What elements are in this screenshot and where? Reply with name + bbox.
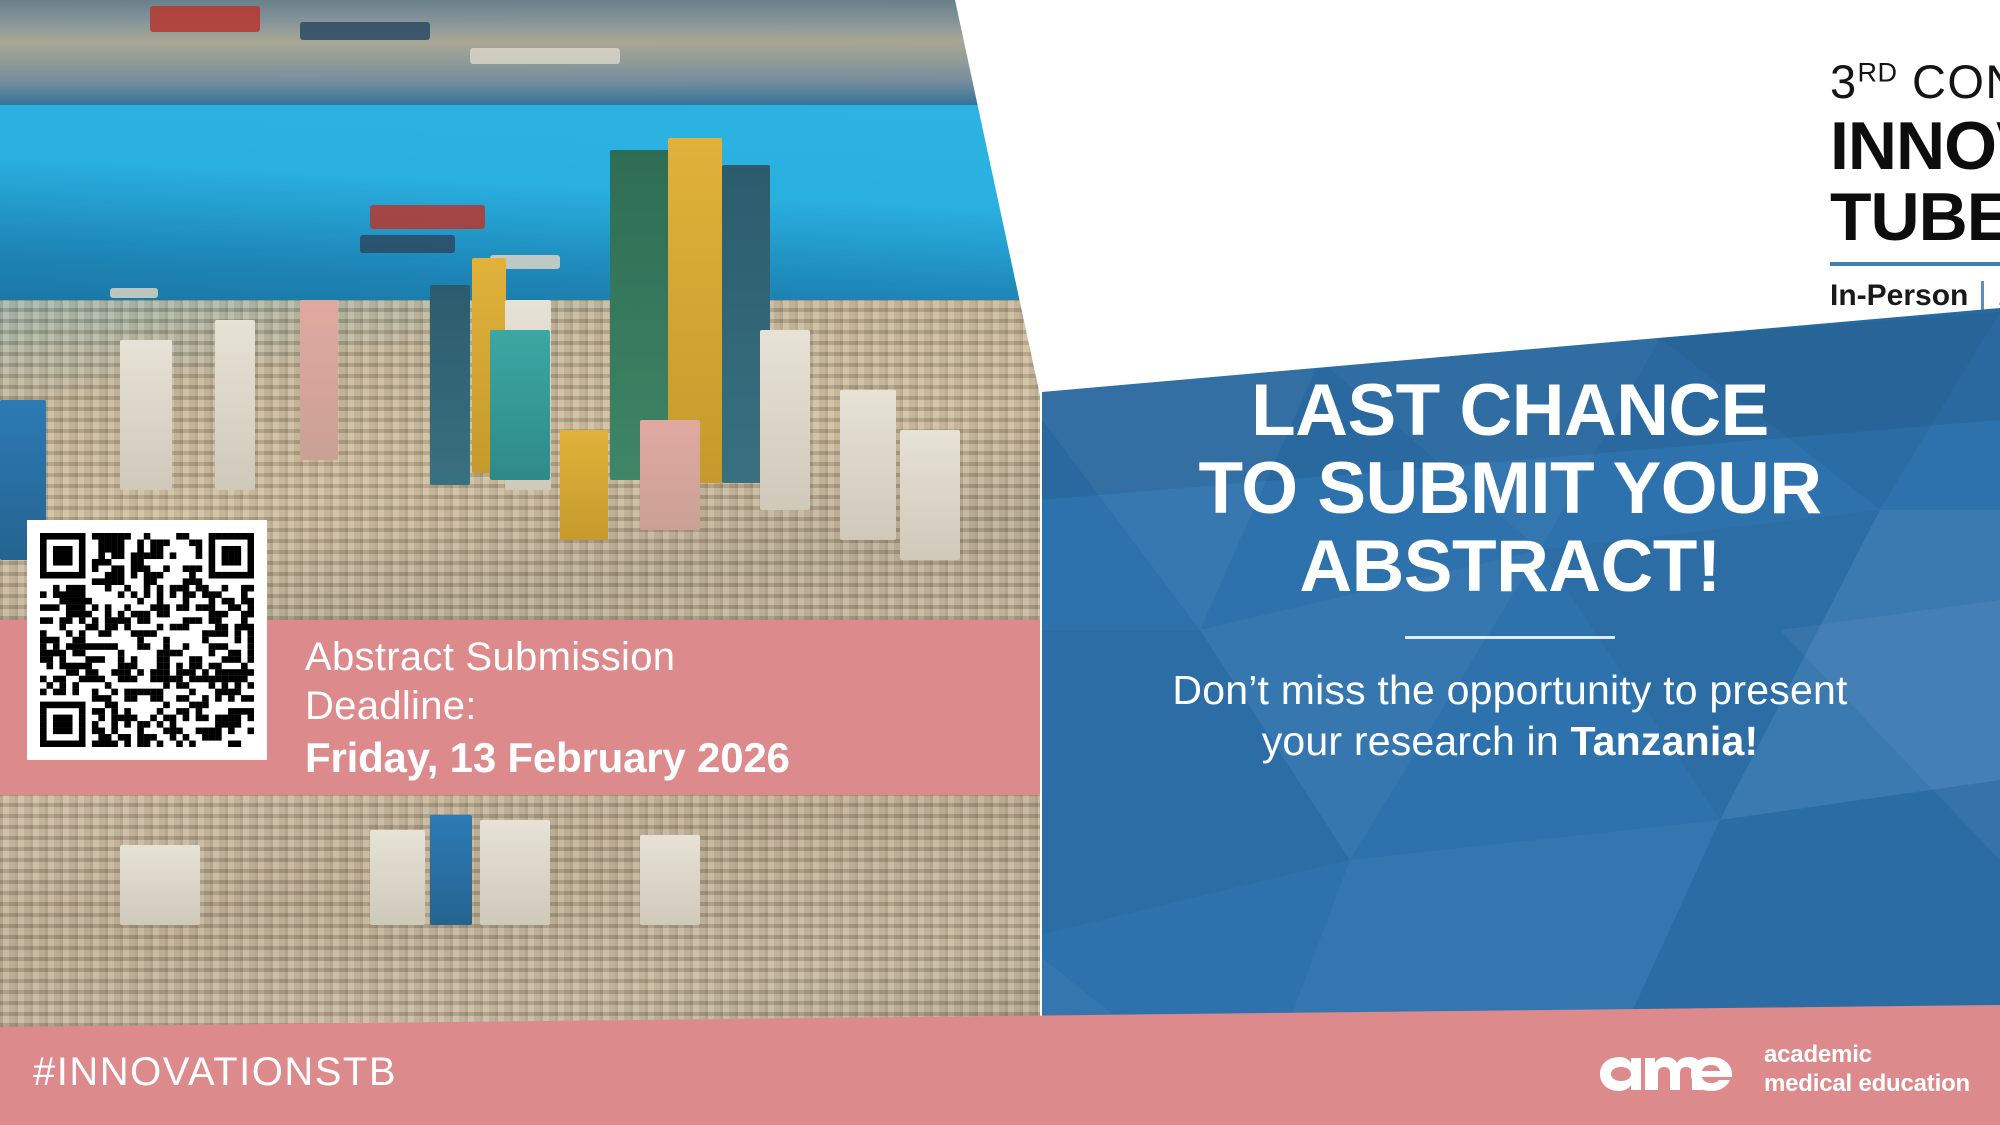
conference-format: In-Person [1830,279,1968,313]
ame-brand-line2: medical education [1764,1070,1970,1099]
cta-line1: LAST CHANCE [1251,372,1769,450]
conference-title-line2: INNOVATIONS IN [1830,113,2000,180]
deadline-label-line2: Deadline: [305,682,790,731]
deadline-label-line1: Abstract Submission [305,633,790,682]
tagline-country: Tanzania! [1570,718,1758,764]
cta-line2: TO SUBMIT YOUR [1198,450,1821,528]
cta-line3: ABSTRACT! [1299,528,1720,606]
meta-separator-1 [1981,281,1984,311]
conference-meta-line: In-Person 11 May 2026 Tanzania, Dar es S… [1830,279,2000,313]
conference-ordinal-suffix: RD [1858,57,1898,87]
conference-title-line3: TUBERCULOSIS2026 [1830,184,2000,251]
abstract-submission-qr-code[interactable] [27,520,267,760]
deadline-text: Abstract Submission Deadline: Friday, 13… [305,633,790,783]
hashtag: #INNOVATIONSTB [33,1050,397,1095]
conference-ordinal: 3 [1830,55,1858,108]
cta-divider [1405,636,1615,639]
ame-logo: academic medical education [1598,1041,1970,1099]
ame-e-glyph-icon [1680,1047,1742,1093]
ame-brand-line1: academic [1764,1041,1970,1070]
title-underline-rule [1830,262,2000,266]
cta-panel: LAST CHANCE TO SUBMIT YOUR ABSTRACT! Don… [1020,300,2000,1125]
ame-brand-words: academic medical education [1764,1041,1970,1099]
deadline-date: Friday, 13 February 2026 [305,734,790,782]
tagline-line2-prefix: your research in [1262,718,1571,764]
deadline-block: Abstract Submission Deadline: Friday, 13… [0,620,1040,795]
tagline-line1: Don’t miss the opportunity to present [1172,665,1847,716]
tagline-line2: your research in Tanzania! [1172,716,1847,767]
conference-line1-rest: CONFERENCE ON [1912,55,2000,108]
conference-ordinal-line: 3RD CONFERENCE ON [1830,58,2000,105]
conference-title-subject: TUBERCULOSIS [1830,179,2000,255]
conference-promo-banner: 3RD CONFERENCE ON INNOVATIONS IN TUBERCU… [0,0,2000,1125]
cta-tagline: Don’t miss the opportunity to present yo… [1172,665,1847,767]
